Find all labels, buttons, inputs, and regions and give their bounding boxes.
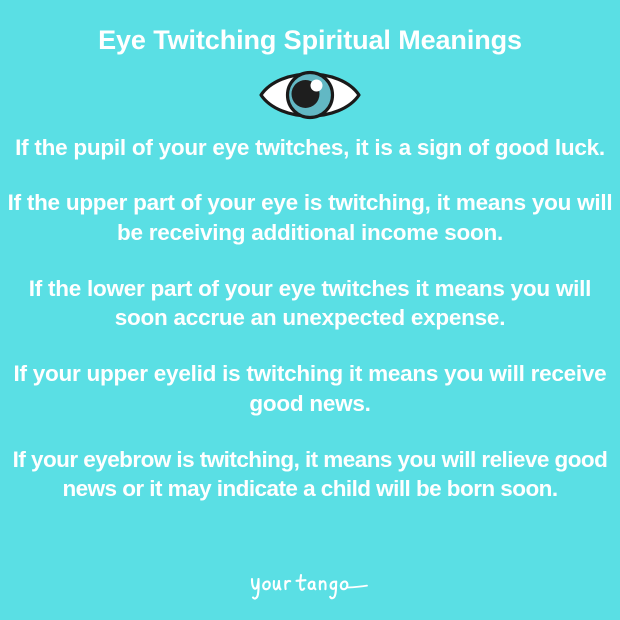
meaning-item-lower-part: If the lower part of your eye twitches i… [5,274,615,333]
meanings-list: If the pupil of your eye twitches, it is… [0,133,620,504]
eye-icon-graphic [258,65,362,125]
yourtango-logo[interactable]: YourTango [0,568,620,602]
meaning-item-eyebrow: If your eyebrow is twitching, it means y… [0,445,620,504]
eye-icon [258,65,362,125]
meaning-item-upper-eyelid: If your upper eyelid is twitching it mea… [5,359,615,418]
meaning-item-upper-part: If the upper part of your eye is twitchi… [5,188,615,247]
yourtango-logo-icon [246,568,374,602]
meaning-item-pupil: If the pupil of your eye twitches, it is… [5,133,615,163]
infographic-card: Eye Twitching Spiritual Meanings If the … [0,0,620,620]
page-title: Eye Twitching Spiritual Meanings [0,26,620,56]
